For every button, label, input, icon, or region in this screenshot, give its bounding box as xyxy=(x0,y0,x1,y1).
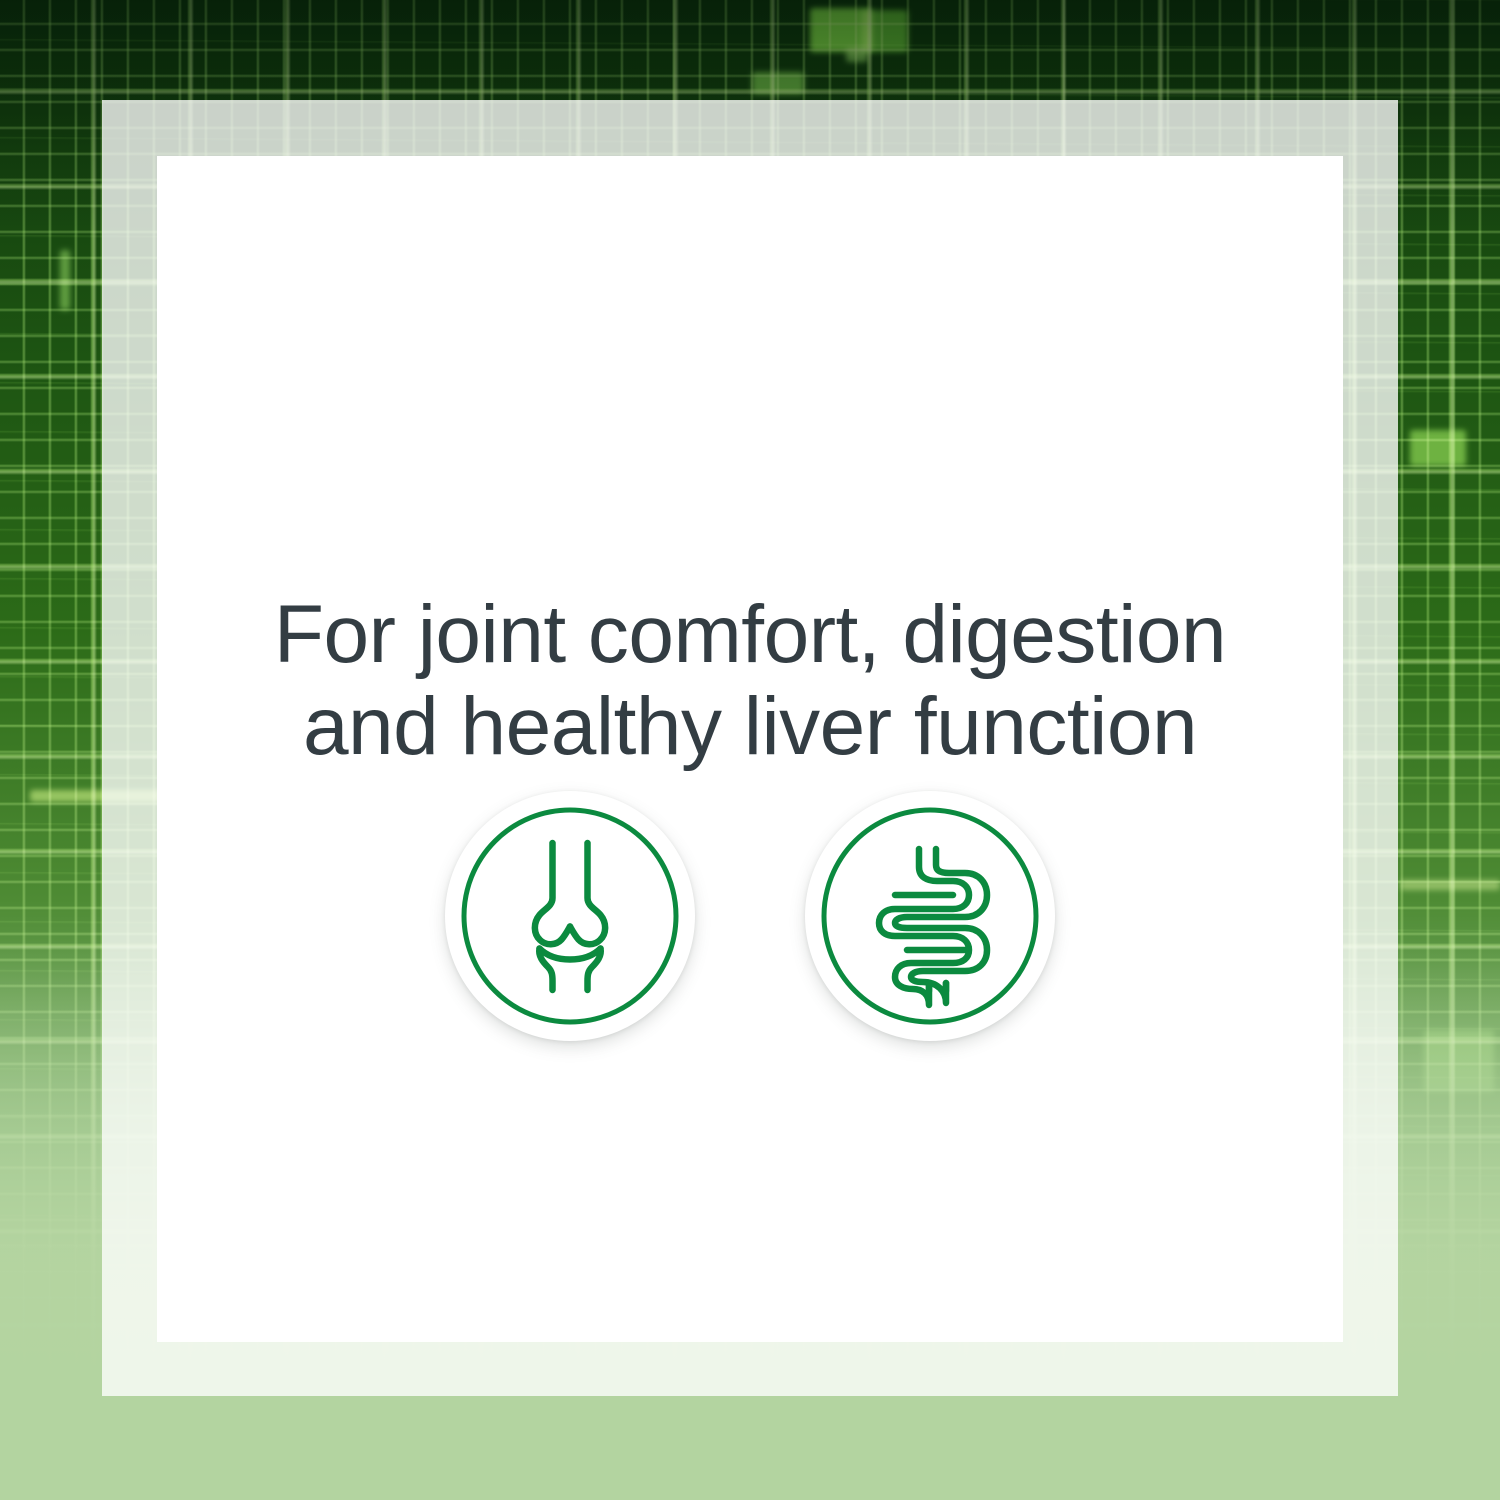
intestine-icon xyxy=(819,805,1041,1027)
headline-line-2: and healthy liver function xyxy=(181,681,1319,773)
background-glow-cell xyxy=(1400,880,1500,890)
background-glow-cell xyxy=(1410,430,1466,466)
benefit-icon-joint xyxy=(445,791,695,1041)
content-panel: For joint comfort, digestion and healthy… xyxy=(157,156,1343,1342)
image-canvas: For joint comfort, digestion and healthy… xyxy=(0,0,1500,1500)
joint-bone-icon xyxy=(459,805,681,1027)
headline-line-1: For joint comfort, digestion xyxy=(181,589,1319,681)
background-glow-cell xyxy=(60,250,70,310)
benefit-icon-row xyxy=(157,791,1343,1041)
page-title: For joint comfort, digestion and healthy… xyxy=(157,589,1343,773)
benefit-icon-digestion xyxy=(805,791,1055,1041)
